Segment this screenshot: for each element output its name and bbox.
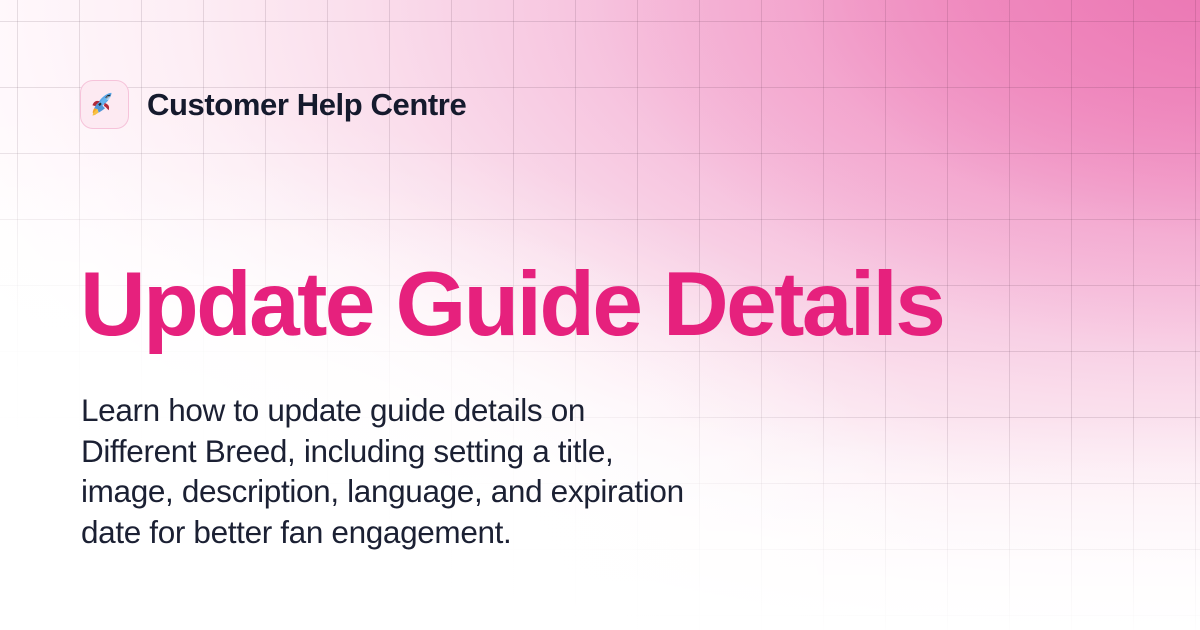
page-title: Update Guide Details	[80, 259, 943, 350]
brand-lockup: Customer Help Centre	[80, 80, 466, 129]
page-description: Learn how to update guide details on Dif…	[81, 390, 891, 552]
rocket-icon	[90, 90, 120, 120]
brand-logo-badge	[80, 80, 129, 129]
banner-content: Customer Help Centre Update Guide Detail…	[0, 0, 1200, 630]
og-banner: Customer Help Centre Update Guide Detail…	[0, 0, 1200, 630]
brand-name: Customer Help Centre	[147, 87, 466, 123]
